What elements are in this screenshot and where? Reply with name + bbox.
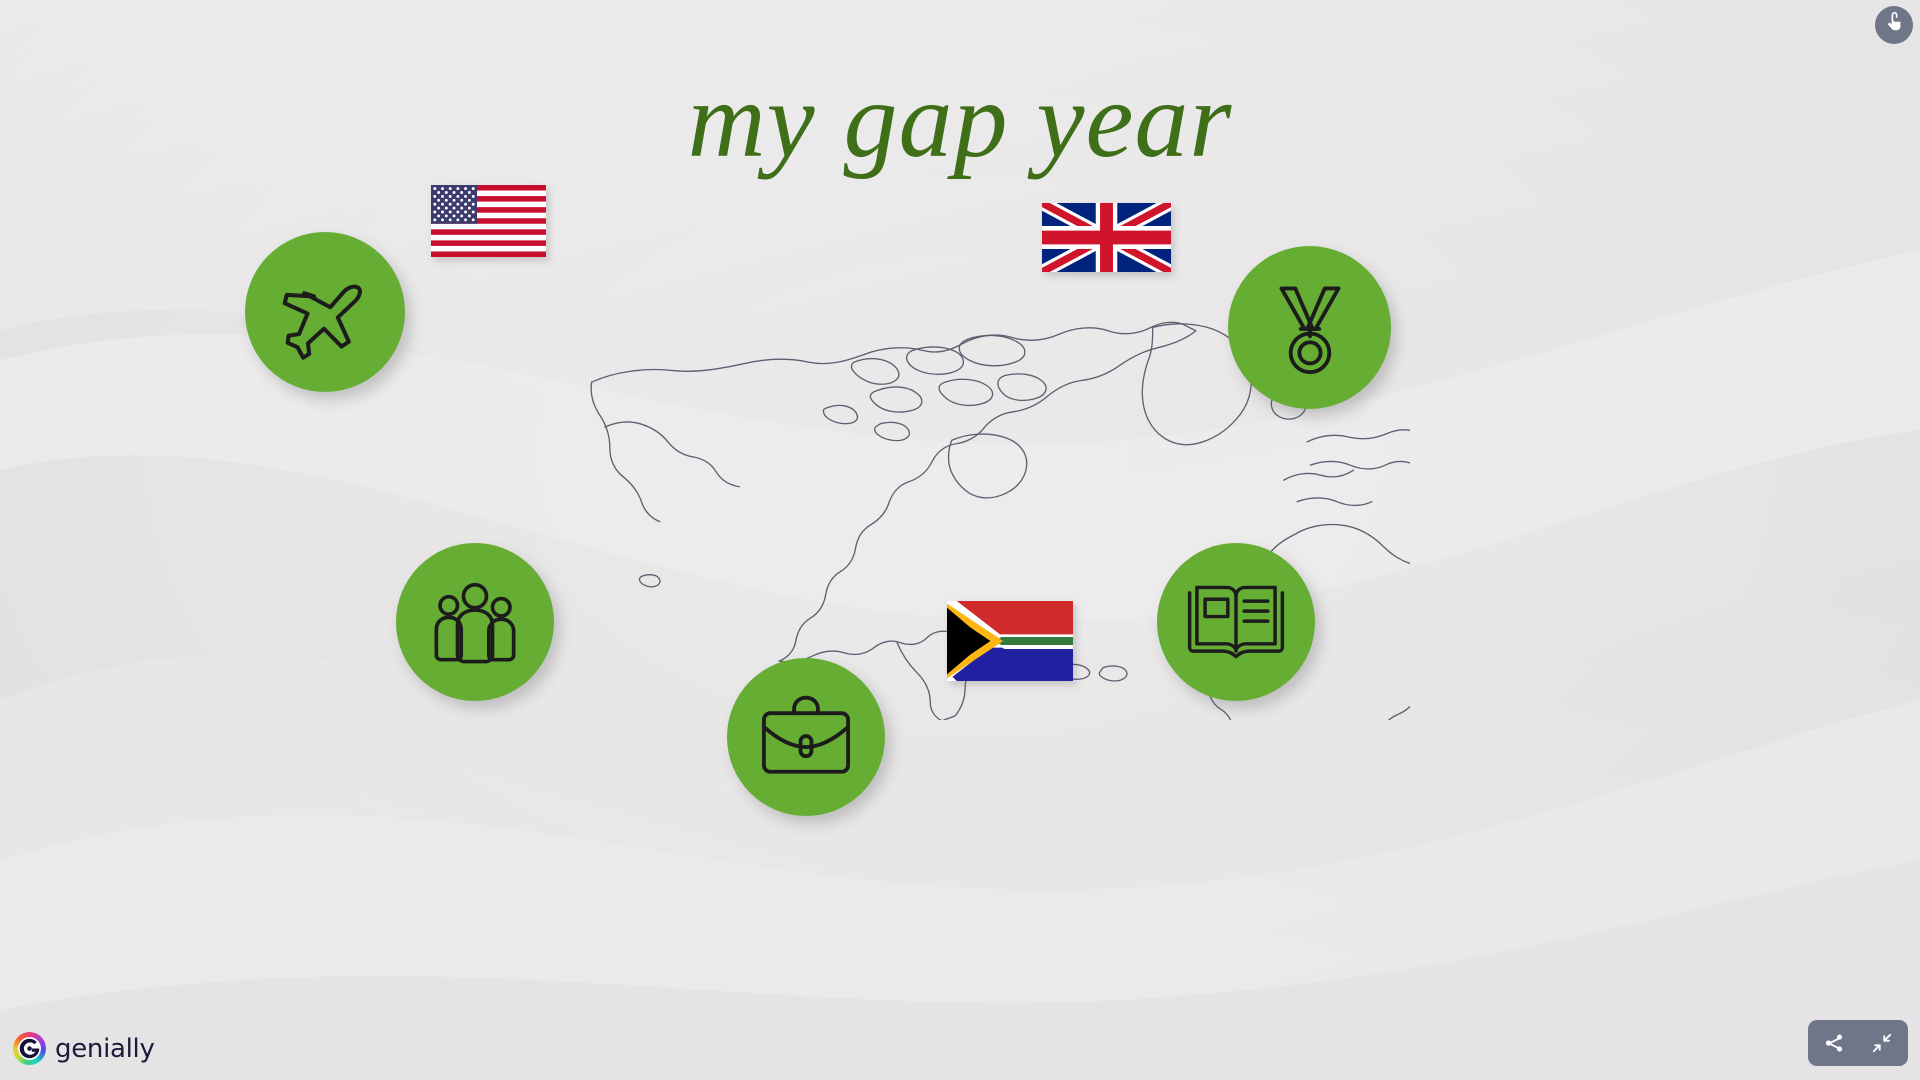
tap-hand-icon <box>1884 12 1905 38</box>
share-icon[interactable] <box>1821 1030 1847 1056</box>
airplane-icon <box>277 264 373 360</box>
group-of-people-icon <box>429 576 521 668</box>
hotspot-award-medal[interactable] <box>1228 246 1391 409</box>
genially-logo-icon <box>13 1032 46 1065</box>
briefcase-icon <box>758 694 854 780</box>
page-title: my gap year <box>0 62 1920 181</box>
hotspot-people-group[interactable] <box>396 543 554 701</box>
presentation-canvas: my gap year <box>0 0 1920 1080</box>
interaction-hint-button[interactable] <box>1875 6 1913 44</box>
genially-brand-text: genially <box>55 1034 155 1064</box>
flag-united-states-icon[interactable] <box>431 185 546 257</box>
flag-south-africa-icon[interactable] <box>947 601 1073 681</box>
bottom-toolbar <box>1808 1020 1908 1066</box>
compress-arrows-icon[interactable] <box>1869 1030 1895 1056</box>
hotspot-work-briefcase[interactable] <box>727 658 885 816</box>
medal-icon <box>1264 281 1356 375</box>
open-book-icon <box>1186 580 1286 664</box>
hotspot-reading-book[interactable] <box>1157 543 1315 701</box>
hotspot-travel-airplane[interactable] <box>245 232 405 392</box>
genially-watermark[interactable]: genially <box>13 1032 155 1065</box>
flag-united-kingdom-icon[interactable] <box>1042 203 1171 272</box>
